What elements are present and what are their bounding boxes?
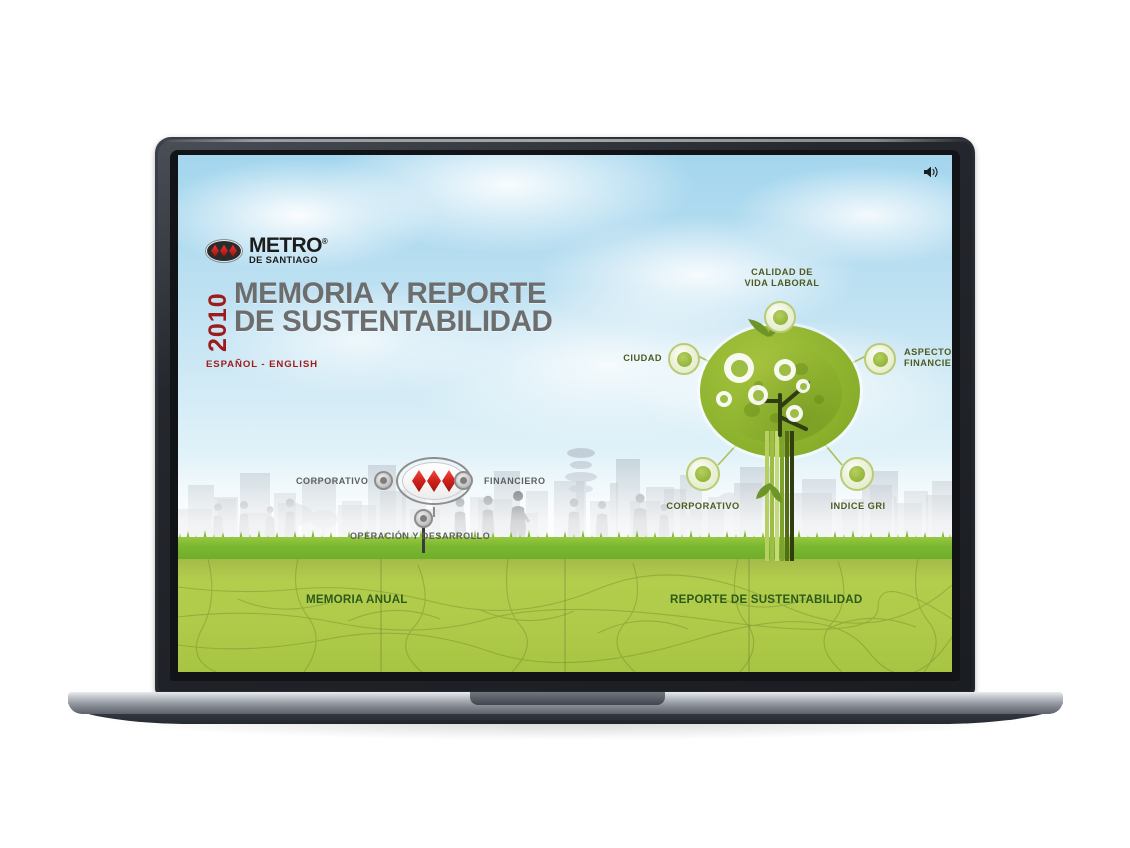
title-line-2: DE SUSTENTABILIDAD: [234, 308, 552, 336]
brand-name-primary: METRO®: [249, 237, 327, 255]
label-line-2: VIDA LABORAL: [742, 278, 822, 289]
tree-label-aspectos-financieros[interactable]: ASPECTOS FINANCIEROS: [904, 347, 952, 369]
trademark-symbol: ®: [322, 237, 327, 246]
bud-icon[interactable]: [716, 391, 732, 407]
section-label-memoria-anual[interactable]: MEMORIA ANUAL: [306, 593, 408, 606]
ground-divider: [380, 559, 382, 672]
label-line-1: INDICE GRI: [814, 501, 902, 512]
bud-icon-ciudad[interactable]: [668, 343, 700, 375]
bud-icon-corporativo[interactable]: [686, 457, 720, 491]
speaker-on-icon[interactable]: [923, 165, 939, 179]
report-year: 2010: [206, 280, 231, 354]
laptop-mockup: METRO® DE SANTIAGO 2010 MEMORIA Y REPORT…: [0, 0, 1130, 848]
language-spanish[interactable]: ESPAÑOL: [206, 359, 258, 370]
nav-financiero[interactable]: FINANCIERO: [484, 476, 546, 486]
node-dot-icon[interactable]: [414, 509, 433, 528]
brand-name-secondary: DE SANTIAGO: [249, 256, 327, 264]
bud-icon[interactable]: [748, 385, 768, 405]
language-separator: -: [261, 359, 265, 370]
memoria-anual-nav: CORPORATIVO FINANCIERO OPERACIÓN Y DESAR…: [298, 447, 548, 557]
bud-icon[interactable]: [724, 353, 754, 383]
laptop-lid-highlight: [158, 139, 972, 142]
tree-label-calidad-vida-laboral[interactable]: CALIDAD DE VIDA LABORAL: [742, 267, 822, 289]
label-line-1: CORPORATIVO: [650, 501, 756, 512]
ground-divider: [748, 559, 750, 672]
diamond-shape: [427, 470, 441, 492]
page-title: 2010 MEMORIA Y REPORTE DE SUSTENTABILIDA…: [206, 280, 552, 354]
language-english[interactable]: ENGLISH: [269, 359, 318, 370]
label-line-1: CIUDAD: [608, 353, 662, 364]
screenshot-canvas: METRO® DE SANTIAGO 2010 MEMORIA Y REPORT…: [0, 0, 1130, 848]
browser-viewport: METRO® DE SANTIAGO 2010 MEMORIA Y REPORT…: [178, 155, 952, 672]
section-label-reporte-sustentabilidad[interactable]: REPORTE DE SUSTENTABILIDAD: [670, 593, 862, 606]
title-line-1: MEMORIA Y REPORTE: [234, 280, 552, 308]
laptop-base-notch: [470, 692, 665, 705]
bud-icon[interactable]: [796, 379, 810, 393]
bud-icon[interactable]: [786, 405, 803, 422]
label-line-1: CALIDAD DE: [742, 267, 822, 278]
diamond-shape: [229, 245, 237, 257]
label-line-2: FINANCIEROS: [904, 358, 952, 369]
leaf-sprig-trunk: [752, 479, 786, 505]
tree-label-corporativo[interactable]: CORPORATIVO: [650, 501, 756, 512]
language-selector[interactable]: ESPAÑOL - ENGLISH: [206, 359, 318, 370]
node-dot-icon[interactable]: [374, 471, 393, 490]
nav-corporativo[interactable]: CORPORATIVO: [296, 476, 368, 486]
ground-divider: [564, 559, 566, 672]
bud-icon-calidad[interactable]: [764, 301, 796, 333]
node-dot-icon[interactable]: [454, 471, 473, 490]
laptop-drop-shadow: [110, 720, 1020, 740]
diamond-shape: [211, 245, 219, 257]
metro-diamonds-icon: [206, 240, 242, 262]
bud-icon-aspectos[interactable]: [864, 343, 896, 375]
diamond-shape: [220, 245, 228, 257]
metro-logo[interactable]: METRO® DE SANTIAGO: [206, 237, 327, 265]
underground-section: [178, 559, 952, 672]
diamond-shape: [412, 470, 426, 492]
label-line-1: ASPECTOS: [904, 347, 952, 358]
tree-label-ciudad[interactable]: CIUDAD: [608, 353, 662, 364]
bud-icon[interactable]: [774, 359, 796, 381]
nav-operacion-desarrollo[interactable]: OPERACIÓN Y DESARROLLO: [350, 531, 490, 541]
bud-icon-indice-gri[interactable]: [840, 457, 874, 491]
tree-label-indice-gri[interactable]: INDICE GRI: [814, 501, 902, 512]
sustainability-tree: CALIDAD DE VIDA LABORAL CIUDAD ASPECTOS …: [618, 263, 948, 563]
